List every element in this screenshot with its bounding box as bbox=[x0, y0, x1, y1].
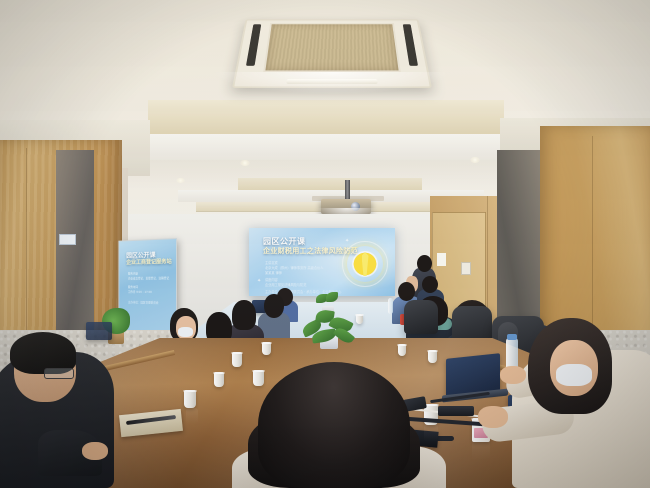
banner-subtitle: 企业工商登记服务站 bbox=[126, 257, 171, 266]
foreground-left-man-hand bbox=[82, 442, 108, 460]
downlight-4 bbox=[470, 157, 480, 163]
ceiling-recess-upper bbox=[130, 134, 522, 160]
left-attendee-4-head bbox=[232, 300, 256, 330]
foreground-right-woman-hand-lower bbox=[478, 406, 508, 428]
paper-cup-6 bbox=[428, 350, 437, 363]
necktie-emblem-logo-icon bbox=[347, 246, 383, 282]
sparkle-icon-1: ✦ bbox=[345, 238, 349, 244]
table-plant-center bbox=[300, 306, 358, 344]
table-reflection-2 bbox=[424, 424, 438, 442]
ac-vent-left bbox=[246, 24, 261, 66]
power-strip[interactable] bbox=[438, 406, 474, 416]
paper-cup-10 bbox=[214, 372, 224, 387]
left-attendee-5-head bbox=[264, 294, 284, 318]
projection-screen: 园区公开课 企业财税用工之法律风险防范 主讲嘉宾 北京大成（郑州）律师事务所 高… bbox=[249, 228, 395, 296]
downlight-3 bbox=[240, 160, 250, 166]
foreground-center-hair bbox=[258, 362, 410, 488]
banner-body-line-1: 服务内容 bbox=[128, 272, 138, 276]
office-chair-right-3[interactable] bbox=[404, 300, 438, 334]
paper-cup-7 bbox=[398, 344, 406, 356]
table-reflection-3 bbox=[472, 440, 490, 460]
paper-cup-9 bbox=[253, 370, 264, 386]
far-attendee-3-head bbox=[422, 276, 438, 293]
ac-grille bbox=[263, 23, 400, 72]
table-reflection-1 bbox=[186, 408, 198, 424]
banner-body-line-4: 服务时间 bbox=[128, 285, 138, 289]
ac-vent-right bbox=[403, 24, 418, 66]
banner-footer: 主办单位：园区管理委员会 bbox=[128, 300, 158, 304]
standing-presenter-head bbox=[417, 255, 432, 272]
water-bottle-far bbox=[388, 298, 393, 314]
screen-body-line-3: 某某某 律师 bbox=[265, 270, 282, 275]
downlight-10 bbox=[176, 178, 185, 183]
foreground-right-woman-hand-upper bbox=[500, 366, 526, 384]
ceiling-cove-upper bbox=[148, 100, 504, 135]
banner-body-line-5: 工作日 9:00 - 17:00 bbox=[128, 290, 152, 294]
light-switch-icon[interactable] bbox=[461, 262, 471, 275]
wall-sign-plate bbox=[59, 234, 76, 245]
screen-body-line-6: 企业用工常见法律风险与防范 bbox=[265, 282, 306, 287]
paper-note bbox=[437, 253, 446, 266]
water-bottle-cap bbox=[507, 334, 517, 340]
paper-cup-1 bbox=[184, 390, 196, 408]
banner-body-line-2: 企业设立登记、变更登记、注销登记 bbox=[128, 276, 169, 280]
projector-mount-pole bbox=[345, 180, 350, 201]
ac-glow bbox=[214, 72, 450, 94]
sparkle-icon-2: ✦ bbox=[257, 278, 261, 284]
laptop-left-2[interactable] bbox=[86, 322, 112, 340]
face-mask-icon-foreground-right bbox=[556, 364, 592, 386]
paper-cup-3 bbox=[232, 352, 242, 367]
face-mask-icon-left-2 bbox=[178, 327, 193, 337]
far-attendee-2-head bbox=[398, 282, 415, 301]
paper-cup-2 bbox=[262, 342, 271, 355]
eyeglasses-icon bbox=[44, 368, 74, 379]
conference-room-photo: 园区公开课 企业财税用工之法律风险防范 主讲嘉宾 北京大成（郑州）律师事务所 高… bbox=[0, 0, 650, 488]
